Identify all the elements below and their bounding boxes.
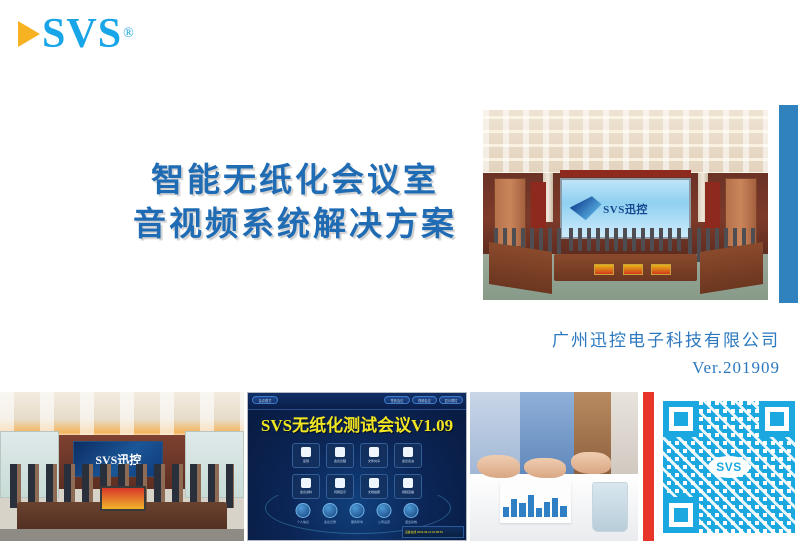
qr-finder-top-left bbox=[663, 401, 699, 437]
accent-bar-blue bbox=[779, 105, 798, 303]
tile-signin[interactable]: 签到 bbox=[292, 443, 320, 468]
desk-flag-1 bbox=[594, 264, 614, 275]
title-line-2: 音视频系统解决方案 bbox=[100, 202, 490, 246]
laptop-screen bbox=[100, 486, 146, 511]
note-icon bbox=[323, 503, 338, 518]
team-discussion-photo bbox=[470, 392, 638, 541]
chart-document bbox=[500, 481, 571, 523]
logo-wordmark: SVS bbox=[42, 12, 122, 56]
gear-icon bbox=[377, 503, 392, 518]
qr-code-block: SVS bbox=[658, 392, 800, 541]
dock-label: 服务呼叫 bbox=[351, 520, 363, 524]
red-banner bbox=[560, 170, 691, 178]
hero-conference-room-image: SVS迅控 bbox=[483, 110, 768, 300]
tile-label: 会议表决 bbox=[402, 459, 414, 463]
bell-icon bbox=[350, 503, 365, 518]
tile-label: 会议资料 bbox=[300, 490, 312, 494]
bottom-image-strip: SVS迅控 会议模式 签到会议 视频会议 显示屏控 SVS无纸化测试会议V1.0… bbox=[0, 392, 800, 541]
dock-item-profile[interactable]: 个人信息 bbox=[296, 503, 311, 524]
software-tile-grid: 签到 会议议程 文件共享 会议表决 会议资料 同屏显示 bbox=[292, 443, 422, 499]
tile-materials[interactable]: 会议资料 bbox=[292, 474, 320, 499]
wall-panel-left bbox=[531, 182, 545, 228]
dock-item-notes[interactable]: 会议记录 bbox=[323, 503, 338, 524]
company-name: 广州迅控电子科技有限公司 bbox=[552, 328, 780, 354]
title-line-1: 智能无纸化会议室 bbox=[100, 158, 490, 202]
hand-3 bbox=[571, 452, 611, 474]
qr-finder-top-right bbox=[759, 401, 795, 437]
camera-icon bbox=[369, 478, 379, 488]
tile-file-share[interactable]: 文件共享 bbox=[360, 443, 388, 468]
software-dock: 个人信息 会议记录 服务呼叫 公司设置 退出系统 bbox=[296, 503, 419, 524]
dock-label: 公司设置 bbox=[378, 520, 390, 524]
tile-vote[interactable]: 会议表决 bbox=[394, 443, 422, 468]
software-topbar: 会议模式 签到会议 视频会议 显示屏控 bbox=[248, 393, 466, 410]
bar-chart-graphic bbox=[503, 491, 566, 517]
version-label: Ver.201909 bbox=[552, 354, 780, 382]
qr-center-label: SVS bbox=[708, 456, 750, 478]
tile-label: 同屏显示 bbox=[334, 490, 346, 494]
folder-icon bbox=[301, 478, 311, 488]
floor bbox=[0, 529, 244, 541]
company-block: 广州迅控电子科技有限公司 Ver.201909 bbox=[552, 328, 780, 382]
clipboard-icon bbox=[301, 447, 311, 457]
qr-code-image: SVS bbox=[663, 401, 795, 533]
tile-agenda[interactable]: 会议议程 bbox=[326, 443, 354, 468]
status-bar: 设备在线 2019-09-12 10:08:51 bbox=[402, 526, 464, 538]
topbar-pill-3[interactable]: 显示屏控 bbox=[439, 396, 463, 404]
desk-flag-3 bbox=[651, 264, 671, 275]
video-icon bbox=[403, 478, 413, 488]
water-glass bbox=[592, 482, 628, 532]
logo-triangle-icon bbox=[18, 21, 40, 47]
tile-label: 会议议程 bbox=[334, 459, 346, 463]
registered-trademark-icon: ® bbox=[123, 26, 134, 42]
page-title: 智能无纸化会议室 音视频系统解决方案 bbox=[100, 158, 490, 246]
chairs-center bbox=[569, 228, 683, 251]
topbar-pill-0[interactable]: 会议模式 bbox=[252, 396, 278, 404]
meeting-room-photo: SVS迅控 bbox=[0, 392, 244, 541]
qr-finder-bottom-left bbox=[663, 497, 699, 533]
dock-label: 退出系统 bbox=[405, 520, 417, 524]
tile-label: 文档拍照 bbox=[368, 490, 380, 494]
dock-item-settings[interactable]: 公司设置 bbox=[377, 503, 392, 524]
hand-2 bbox=[524, 458, 566, 479]
dock-label: 个人信息 bbox=[297, 520, 309, 524]
topbar-pill-2[interactable]: 视频会议 bbox=[412, 396, 437, 404]
dock-label: 会议记录 bbox=[324, 520, 336, 524]
dock-item-service[interactable]: 服务呼叫 bbox=[350, 503, 365, 524]
hand-1 bbox=[477, 455, 521, 479]
person-4 bbox=[611, 392, 638, 478]
tile-label: 文件共享 bbox=[368, 459, 380, 463]
screen-brand-text: SVS迅控 bbox=[603, 201, 648, 217]
user-icon bbox=[296, 503, 311, 518]
ceiling bbox=[483, 110, 768, 175]
tile-label: 视频直播 bbox=[402, 490, 414, 494]
desk-flag-2 bbox=[623, 264, 643, 275]
wall-panel-right bbox=[705, 182, 719, 228]
tile-screen-sync[interactable]: 同屏显示 bbox=[326, 474, 354, 499]
exit-icon bbox=[404, 503, 419, 518]
accent-bar-red bbox=[643, 392, 654, 541]
software-screenshot: 会议模式 签到会议 视频会议 显示屏控 SVS无纸化测试会议V1.09 签到 会… bbox=[247, 392, 467, 541]
screen-icon bbox=[369, 447, 379, 457]
tile-video[interactable]: 视频直播 bbox=[394, 474, 422, 499]
software-title: SVS无纸化测试会议V1.09 bbox=[248, 411, 466, 436]
topbar-pill-1[interactable]: 签到会议 bbox=[384, 396, 410, 404]
sync-icon bbox=[335, 478, 345, 488]
document-icon bbox=[335, 447, 345, 457]
tile-photo[interactable]: 文档拍照 bbox=[360, 474, 388, 499]
tile-label: 签到 bbox=[303, 459, 309, 463]
dock-item-exit[interactable]: 退出系统 bbox=[404, 503, 419, 524]
vote-icon bbox=[403, 447, 413, 457]
svs-logo: SVS ® bbox=[18, 12, 134, 56]
